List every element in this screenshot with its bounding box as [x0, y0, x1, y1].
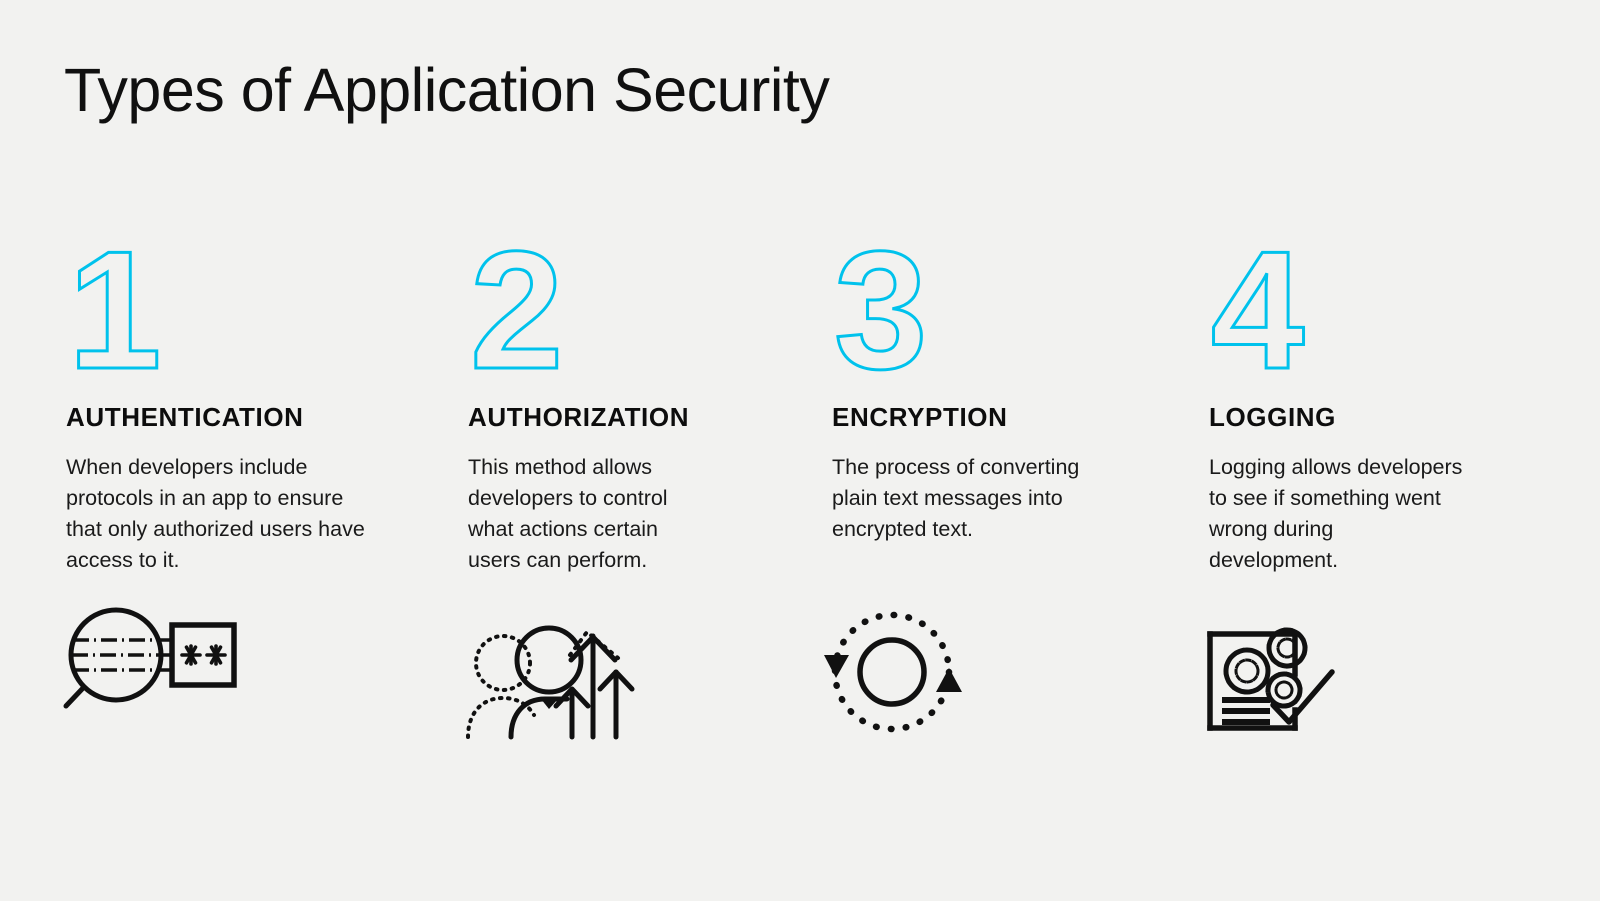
page-title: Types of Application Security [64, 58, 829, 124]
heading-authorization: AUTHORIZATION [468, 404, 689, 430]
numeral-4: 4 [1207, 238, 1327, 380]
body-logging: Logging allows developers to see if some… [1209, 452, 1467, 576]
dashed-lines [72, 640, 172, 670]
columns-container: 1 AUTHENTICATION When developers include… [0, 238, 1600, 798]
up-arrow-tall [571, 636, 615, 737]
arrowhead-left [824, 655, 849, 678]
magnifier-password-icon [64, 610, 244, 740]
body-encryption: The process of converting plain text mes… [832, 452, 1124, 545]
inner-circle [860, 640, 924, 704]
up-arrow-short [556, 689, 588, 737]
asterisks [182, 646, 225, 664]
heading-authentication: AUTHENTICATION [66, 404, 304, 430]
numeral-1-glyph: 1 [68, 216, 161, 404]
numeral-2: 2 [466, 238, 586, 380]
numeral-4-glyph: 4 [1211, 216, 1304, 404]
gear-large [1226, 650, 1268, 692]
gear-small [1268, 674, 1300, 706]
body-authorization: This method allows developers to control… [468, 452, 713, 576]
encryption-cycle-icon [830, 610, 1010, 740]
heading-logging: LOGGING [1209, 404, 1336, 430]
up-arrow-medium [600, 672, 632, 737]
log-document-gears-check-icon [1207, 610, 1387, 740]
body-authentication: When developers include protocols in an … [66, 452, 378, 576]
text-lines [1225, 700, 1267, 722]
heading-encryption: ENCRYPTION [832, 404, 1008, 430]
numeral-3: 3 [830, 238, 950, 380]
numeral-2-glyph: 2 [470, 216, 563, 404]
dotted-orbit [835, 615, 949, 729]
users-permission-arrows-icon [466, 610, 646, 740]
arrowhead-right [936, 668, 962, 692]
numeral-3-glyph: 3 [834, 216, 927, 404]
magnifying-glass-handle [66, 687, 84, 706]
infographic-root: Types of Application Security 1 AUTHENTI… [0, 0, 1600, 901]
numeral-1: 1 [64, 238, 184, 380]
dotted-person [468, 636, 534, 737]
